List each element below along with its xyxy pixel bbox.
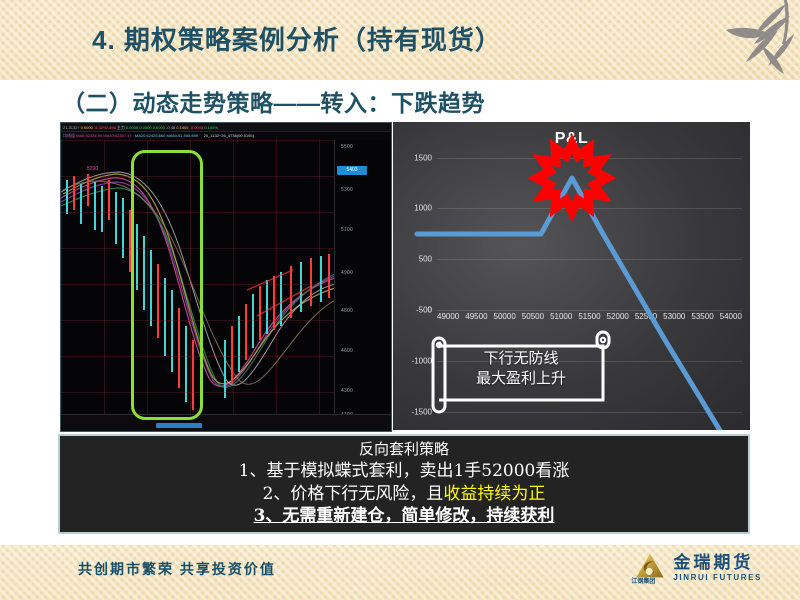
- trading-terminal-panel[interactable]: 21.3132↑ 0.0000 -5.32%/-496 主力 0.0000 0.…: [60, 122, 392, 432]
- axis-tick: 4300: [341, 388, 353, 394]
- scroll-line-1: 下行无防线: [483, 348, 558, 368]
- scroll-callout: 下行无防线 最大盈利上升: [425, 330, 617, 406]
- logo-text-block: 金瑞期货 JINRUI FUTURES: [673, 554, 762, 582]
- strategy-note-box: 反向套利策略 1、基于模拟蝶式套利，卖出1手52000看涨 2、价格下行无风险，…: [58, 434, 750, 534]
- terminal-scrollbar[interactable]: [61, 414, 391, 431]
- scrollbar-thumb[interactable]: [156, 423, 202, 428]
- axis-tick: 4600: [341, 348, 353, 354]
- note-line-1: 1、基于模拟蝶式套利，卖出1手52000看涨: [239, 460, 570, 483]
- page-subtitle: （二）动态走势策略——转入：下跌趋势: [62, 84, 485, 118]
- logo-name-en: JINRUI FUTURES: [673, 574, 762, 582]
- scroll-callout-text: 下行无防线 最大盈利上升: [425, 330, 617, 406]
- price-highlight-badge: 5403: [337, 166, 367, 175]
- highlight-selection-box: [131, 150, 203, 420]
- note-heading: 反向套利策略: [359, 440, 449, 460]
- slide: 4. 期权策略案例分析（持有现货） （二）动态走势策略——转入：下跌趋势 21.…: [0, 0, 800, 600]
- scroll-line-2: 最大盈利上升: [476, 368, 566, 388]
- terminal-quote-bar: 21.3132↑ 0.0000 -5.32%/-496 主力 0.0000 0.…: [61, 123, 391, 132]
- footer-band: 共创期市繁荣 共享投资价值 金瑞期货 JINRUI FUTURES 江钢集团: [0, 545, 800, 600]
- note-line-3: 3、无需重新建仓，简单修改，持续获利: [254, 505, 555, 528]
- bamboo-leaves-icon: [686, 0, 796, 88]
- header-band: 4. 期权策略案例分析（持有现货）: [0, 0, 800, 80]
- pnl-chart-panel: P&L 1500 1000 500 0 -500 -1000 -1500 490…: [393, 122, 750, 430]
- page-title: 4. 期权策略案例分析（持有现货）: [92, 20, 502, 57]
- plot-price-tag: 5290: [87, 166, 98, 172]
- footer-logo: 金瑞期货 JINRUI FUTURES 江钢集团: [633, 551, 762, 585]
- axis-tick: 5100: [341, 227, 353, 233]
- terminal-ma-bar: 均线组 MA5:52334.90 MA10:52357.17 MA20:5242…: [61, 132, 391, 140]
- axis-tick: 5500: [341, 144, 353, 150]
- note-line-2-prefix: 2、价格下行无风险，且: [263, 484, 444, 504]
- terminal-price-axis: 5500 5403 5300 5100 4900 4800 4600 4300 …: [334, 140, 391, 415]
- axis-tick: 5300: [341, 187, 353, 193]
- axis-tick: 4800: [341, 308, 353, 314]
- logo-subtitle: 江钢集团: [631, 576, 655, 585]
- footer-slogan: 共创期市繁荣 共享投资价值: [78, 559, 276, 579]
- logo-name-cn: 金瑞期货: [673, 554, 762, 571]
- note-line-2-highlight: 收益持续为正: [443, 484, 545, 504]
- axis-tick: 4900: [341, 270, 353, 276]
- note-line-2: 2、价格下行无风险，且收益持续为正: [263, 483, 546, 506]
